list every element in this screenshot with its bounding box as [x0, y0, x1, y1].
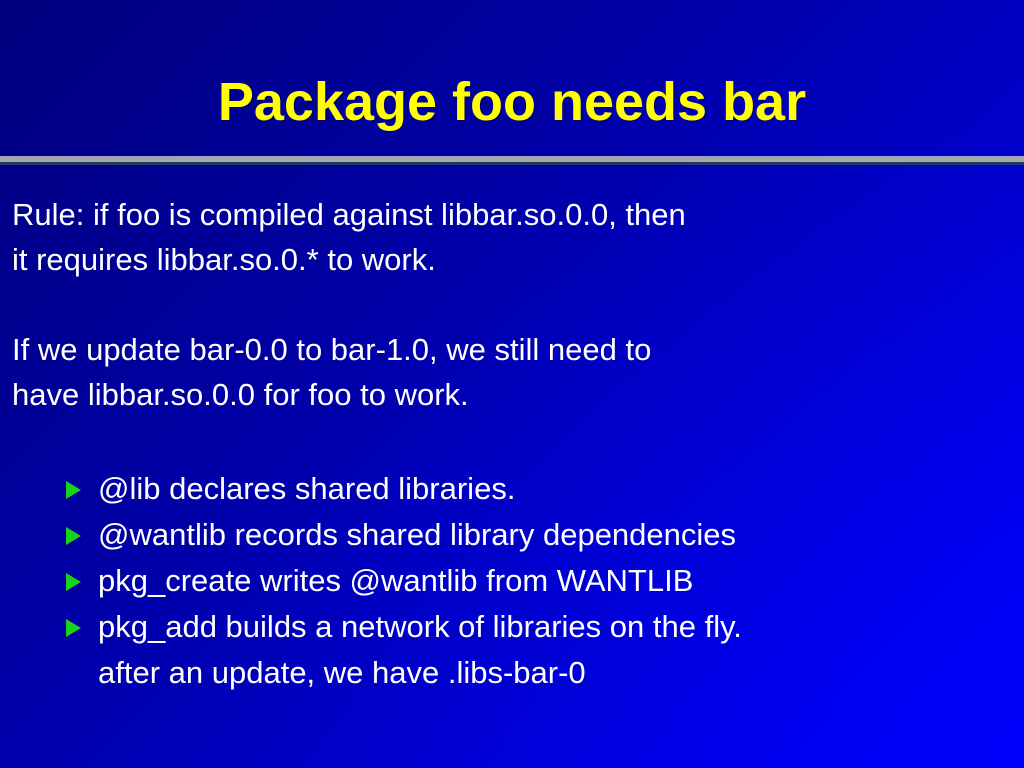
- list-item-continuation: after an update, we have .libs-bar-0: [66, 650, 1016, 696]
- slide-title: Package foo needs bar: [0, 74, 1024, 131]
- list-item-continuation-label: after an update, we have .libs-bar-0: [98, 655, 586, 690]
- triangle-right-icon: [66, 512, 98, 558]
- triangle-right-icon: [66, 466, 98, 512]
- title-divider: [0, 156, 1024, 165]
- list-item-label: @wantlib records shared library dependen…: [98, 512, 736, 558]
- presentation-slide: Package foo needs bar Rule: if foo is co…: [0, 0, 1024, 768]
- divider-shadow-line: [0, 162, 1024, 165]
- paragraph-2-line-2: have libbar.so.0.0 for foo to work.: [12, 372, 1012, 417]
- paragraph-1-line-1: Rule: if foo is compiled against libbar.…: [12, 192, 1012, 237]
- paragraph-spacer: [12, 282, 1012, 327]
- paragraph-1-line-2: it requires libbar.so.0.* to work.: [12, 237, 1012, 282]
- list-item-label: pkg_create writes @wantlib from WANTLIB: [98, 558, 693, 604]
- slide-body: Rule: if foo is compiled against libbar.…: [12, 192, 1012, 417]
- paragraph-2-line-1: If we update bar-0.0 to bar-1.0, we stil…: [12, 327, 1012, 372]
- list-item: @wantlib records shared library dependen…: [66, 512, 1016, 558]
- triangle-right-icon: [66, 558, 98, 604]
- slide-title-region: Package foo needs bar: [0, 74, 1024, 131]
- list-item-label: @lib declares shared libraries.: [98, 466, 515, 512]
- bullet-list: @lib declares shared libraries. @wantlib…: [66, 466, 1016, 696]
- list-item-label: pkg_add builds a network of libraries on…: [98, 604, 742, 650]
- list-item: @lib declares shared libraries.: [66, 466, 1016, 512]
- list-item: pkg_create writes @wantlib from WANTLIB: [66, 558, 1016, 604]
- list-item: pkg_add builds a network of libraries on…: [66, 604, 1016, 650]
- triangle-right-icon: [66, 604, 98, 650]
